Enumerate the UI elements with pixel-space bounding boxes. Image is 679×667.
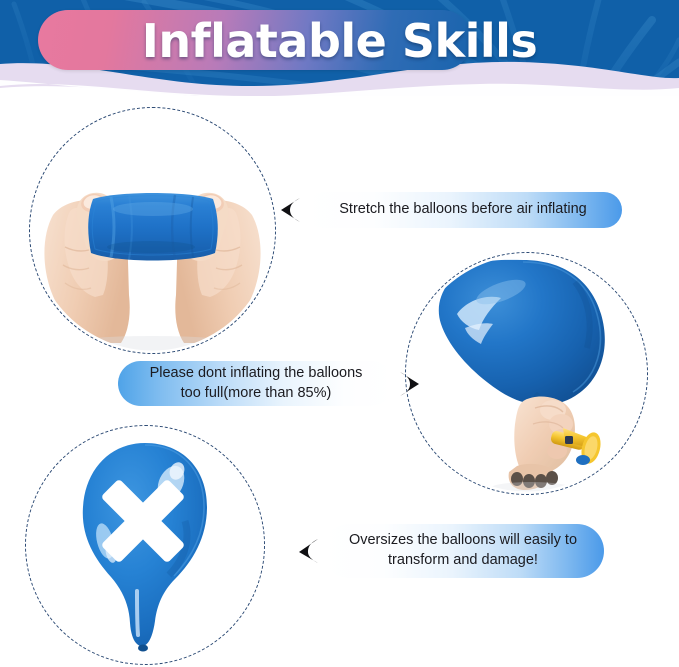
dashed-circle-border — [25, 425, 265, 665]
callout-stretch-text: Stretch the balloons before air inflatin… — [339, 200, 586, 220]
infographic-canvas: Inflatable Skills — [0, 0, 679, 667]
callout-oversize-pill: Oversizes the balloons will easily to tr… — [322, 524, 604, 578]
page-title: Inflatable Skills — [0, 0, 679, 82]
photo-deformed-balloon-rejected — [25, 425, 265, 665]
dashed-circle-border — [405, 252, 648, 495]
header-banner: Inflatable Skills — [0, 0, 679, 96]
callout-do-not-overinflate: Please dont inflating the balloons too f… — [118, 361, 422, 406]
callout-do-not-overinflate-pill: Please dont inflating the balloons too f… — [118, 361, 394, 406]
arrow-right-icon — [396, 369, 422, 399]
callout-notfull-line1: Please dont inflating the balloons — [150, 364, 363, 384]
callout-oversize-line1: Oversizes the balloons will easily to — [349, 531, 577, 551]
callout-oversize-warning: Oversizes the balloons will easily to tr… — [296, 524, 604, 578]
dashed-circle-border — [29, 107, 276, 354]
photo-overinflated-balloon-on-pump — [405, 252, 648, 495]
arrow-left-icon — [278, 195, 304, 225]
callout-stretch: Stretch the balloons before air inflatin… — [278, 192, 622, 228]
arrow-left-icon — [296, 536, 322, 566]
callout-stretch-pill: Stretch the balloons before air inflatin… — [304, 192, 622, 228]
callout-oversize-line2: transform and damage! — [349, 551, 577, 571]
photo-hands-stretching-balloon — [29, 107, 276, 354]
callout-notfull-line2: too full(more than 85%) — [150, 384, 363, 404]
